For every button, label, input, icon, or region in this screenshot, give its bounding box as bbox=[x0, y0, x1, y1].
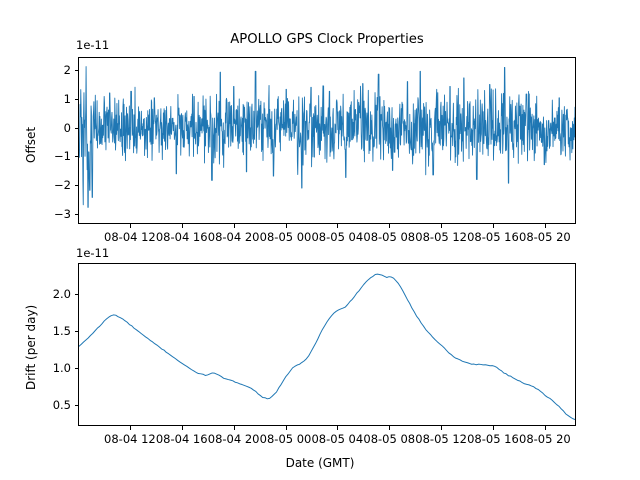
x-tick-mark bbox=[337, 426, 338, 430]
y-tick-mark bbox=[75, 214, 79, 215]
offset-y-exponent-label: 1e-11 bbox=[76, 38, 109, 52]
x-tick-mark bbox=[545, 426, 546, 430]
x-tick-mark bbox=[493, 426, 494, 430]
y-tick-mark bbox=[75, 128, 79, 129]
x-tick-label: 08-05 20 bbox=[519, 432, 571, 446]
x-tick-mark bbox=[545, 224, 546, 228]
drift-series-canvas bbox=[79, 264, 575, 425]
y-tick-label: −2 bbox=[32, 178, 71, 192]
x-tick-mark bbox=[234, 224, 235, 228]
x-tick-label: 08-05 20 bbox=[519, 230, 571, 244]
x-tick-mark bbox=[493, 224, 494, 228]
x-tick-mark bbox=[441, 426, 442, 430]
x-tick-label: 08-05 16 bbox=[467, 432, 519, 446]
y-tick-mark bbox=[75, 185, 79, 186]
x-tick-label: 08-05 12 bbox=[415, 432, 467, 446]
x-tick-label: 08-04 20 bbox=[208, 432, 260, 446]
x-tick-label: 08-04 12 bbox=[104, 432, 156, 446]
y-tick-mark bbox=[75, 156, 79, 157]
y-tick-label: 2.0 bbox=[32, 287, 71, 301]
x-tick-label: 08-05 04 bbox=[311, 230, 363, 244]
y-tick-label: 1 bbox=[32, 92, 71, 106]
y-tick-label: 0 bbox=[32, 121, 71, 135]
y-tick-label: −1 bbox=[32, 149, 71, 163]
y-tick-mark bbox=[75, 70, 79, 71]
x-tick-mark bbox=[234, 426, 235, 430]
x-tick-mark bbox=[389, 224, 390, 228]
y-tick-mark bbox=[75, 99, 79, 100]
x-tick-label: 08-04 12 bbox=[104, 230, 156, 244]
y-tick-label: 0.5 bbox=[32, 398, 71, 412]
y-tick-mark bbox=[75, 405, 79, 406]
drift-y-axis-label: Drift (per day) bbox=[24, 305, 38, 390]
x-tick-label: 08-05 00 bbox=[260, 432, 312, 446]
x-tick-mark bbox=[130, 224, 131, 228]
x-tick-mark bbox=[182, 426, 183, 430]
x-tick-label: 08-05 08 bbox=[363, 230, 415, 244]
y-tick-mark bbox=[75, 368, 79, 369]
y-tick-mark bbox=[75, 331, 79, 332]
y-tick-label: 1.0 bbox=[32, 361, 71, 375]
x-tick-label: 08-04 20 bbox=[208, 230, 260, 244]
x-tick-label: 08-04 16 bbox=[156, 432, 208, 446]
x-tick-label: 08-04 16 bbox=[156, 230, 208, 244]
x-tick-mark bbox=[441, 224, 442, 228]
figure-title: APOLLO GPS Clock Properties bbox=[78, 32, 576, 47]
x-tick-label: 08-05 12 bbox=[415, 230, 467, 244]
x-tick-label: 08-05 08 bbox=[363, 432, 415, 446]
y-tick-label: −3 bbox=[32, 207, 71, 221]
x-tick-mark bbox=[182, 224, 183, 228]
y-tick-label: 1.5 bbox=[32, 324, 71, 338]
x-tick-mark bbox=[337, 224, 338, 228]
x-tick-mark bbox=[130, 426, 131, 430]
y-tick-label: 2 bbox=[32, 63, 71, 77]
drift-x-axis-label: Date (GMT) bbox=[0, 456, 640, 470]
x-tick-mark bbox=[389, 426, 390, 430]
offset-plot-area bbox=[78, 57, 576, 224]
x-tick-mark bbox=[286, 426, 287, 430]
x-tick-label: 08-05 16 bbox=[467, 230, 519, 244]
y-tick-mark bbox=[75, 294, 79, 295]
matplotlib-figure: APOLLO GPS Clock Properties 1e-11 Offset… bbox=[0, 0, 640, 480]
drift-plot-area bbox=[78, 263, 576, 426]
offset-series-canvas bbox=[79, 58, 575, 223]
x-tick-label: 08-05 00 bbox=[260, 230, 312, 244]
x-tick-mark bbox=[286, 224, 287, 228]
drift-y-exponent-label: 1e-11 bbox=[76, 246, 109, 260]
x-tick-label: 08-05 04 bbox=[311, 432, 363, 446]
